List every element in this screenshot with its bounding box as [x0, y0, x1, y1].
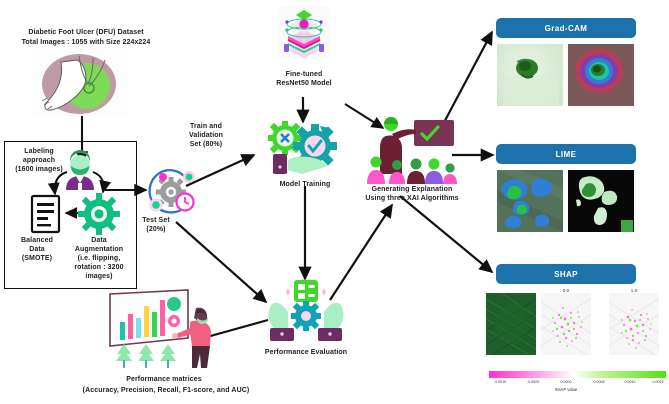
explanation-line1: Generating Explanation [352, 185, 472, 194]
dataset-title-line2: Total Images : 1055 with Size 224x224 [0, 38, 172, 47]
gradcam-original-wound-image [497, 44, 563, 106]
performance-matrices-line2: (Accuracy, Precision, Recall, F1-score, … [57, 386, 275, 395]
panel-title-lime: LIME [556, 150, 577, 159]
shap-colorbar [489, 371, 666, 378]
test-set-label: Test Set (20%) [128, 216, 184, 234]
shap-colorbar-title: SHAP value [555, 387, 578, 392]
presenter-audience-icon [364, 112, 460, 184]
gear-clock-split-icon [144, 164, 200, 220]
arrow-explanation-to-shap [400, 196, 492, 272]
panel-header-gradcam[interactable]: Grad-CAM [496, 18, 636, 38]
diagram-canvas: Diabetic Foot Ulcer (DFU) Dataset Total … [0, 0, 669, 404]
diabetic-foot-ulcer-photo [31, 48, 129, 116]
panel-header-shap[interactable]: SHAP [496, 264, 636, 284]
panel-title-gradcam: Grad-CAM [545, 24, 588, 33]
neural-network-layers-icon [278, 6, 330, 58]
explanation-line2: Using three XAI Algorithms [346, 194, 478, 203]
bar-chart-presentation-icon [104, 288, 222, 372]
model-training-label: Model Training [268, 180, 342, 189]
resnet50-model-label: Fine-tuned ResNet50 Model [267, 70, 341, 88]
gradcam-heatmap-overlay-image [568, 44, 634, 106]
panel-header-lime[interactable]: LIME [496, 144, 636, 164]
data-augmentation-label: Data Augmentation (i.e. flipping, rotati… [65, 236, 133, 281]
shap-colorbar-tick-3: 0.0005 [594, 380, 605, 384]
train-validation-label: Train and Validation Set (80%) [178, 122, 234, 149]
shap-colorbar-tick-2: 0.0000 [561, 380, 572, 384]
shap-class-1-attribution-map [609, 293, 659, 355]
performance-matrices-line1: Performance matrices [108, 375, 220, 384]
hand-gears-training-icon [258, 116, 346, 178]
shap-colorbar-tick-4: 0.0010 [625, 380, 636, 384]
panel-title-shap: SHAP [554, 270, 578, 279]
shap-colorbar-tick-0: -0.0010 [494, 380, 506, 384]
lime-superpixel-overlay-image [497, 170, 563, 232]
hands-settings-evaluation-icon [264, 278, 348, 344]
shap-class-0-attribution-map [541, 293, 591, 355]
shap-original-input-image [486, 293, 536, 355]
balanced-data-label: Balanced Data (SMOTE) [8, 236, 66, 263]
lime-mask-black-background-image [568, 170, 634, 232]
shap-colorbar-tick-1: -0.0005 [527, 380, 539, 384]
gear-icon [78, 193, 120, 235]
dataset-title-line1: Diabetic Foot Ulcer (DFU) Dataset [6, 28, 166, 37]
shap-colorbar-tick-5: 0.0015 [653, 380, 664, 384]
labeler-person-icon [60, 150, 100, 190]
document-icon [29, 194, 62, 234]
performance-evaluation-label: Performance Evaluation [250, 348, 362, 357]
